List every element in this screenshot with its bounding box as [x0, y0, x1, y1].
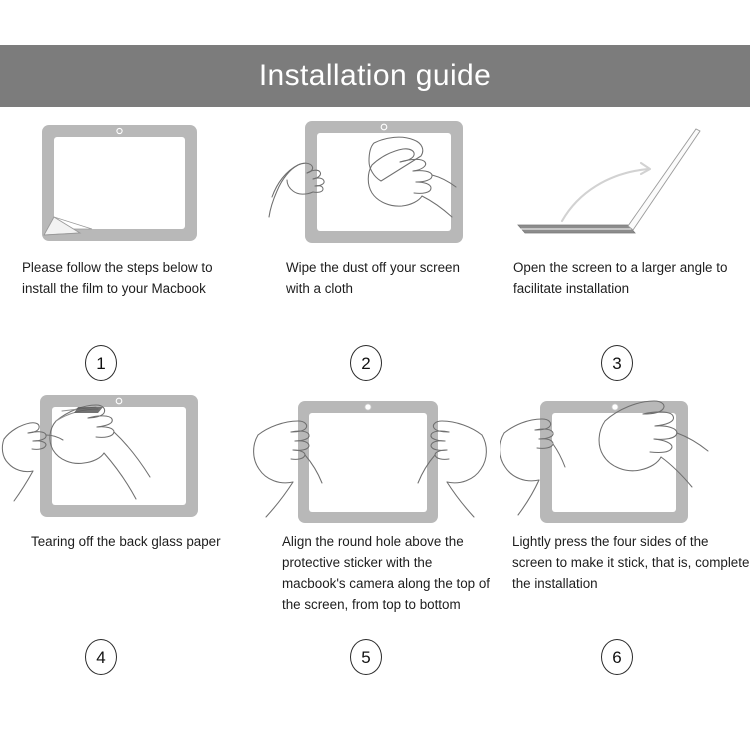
step-number-badge: 2	[350, 345, 382, 381]
steps-grid: Please follow the steps below to install…	[0, 107, 750, 675]
step-cell-5: Align the round hole above the protectiv…	[250, 381, 500, 675]
step-3-illustration	[500, 107, 750, 257]
step-2-number-wrap: 2	[250, 345, 500, 381]
aligning-film-two-hands-icon	[254, 401, 487, 523]
step-5-illustration	[250, 381, 500, 531]
step-6-number-wrap: 6	[500, 639, 750, 675]
step-4-illustration	[0, 381, 250, 531]
step-cell-2: Wipe the dust off your screen with a clo…	[250, 107, 500, 381]
page-title: Installation guide	[259, 61, 491, 91]
step-3-caption: Open the screen to a larger angle to fac…	[513, 257, 744, 345]
step-1-caption: Please follow the steps below to install…	[22, 257, 228, 345]
step-2-caption: Wipe the dust off your screen with a clo…	[286, 257, 492, 345]
step-5-caption: Align the round hole above the protectiv…	[282, 531, 503, 639]
step-4-caption: Tearing off the back glass paper	[31, 531, 242, 639]
step-6-illustration	[500, 381, 750, 531]
installation-guide-page: Installation guide	[0, 0, 750, 750]
step-4-number-wrap: 4	[0, 639, 250, 675]
pressing-film-hand-icon	[500, 401, 708, 523]
hands-wiping-screen-icon	[269, 121, 463, 243]
step-1-number-wrap: 1	[0, 345, 250, 381]
step-cell-1: Please follow the steps below to install…	[0, 107, 250, 381]
step-cell-6: Lightly press the four sides of the scre…	[500, 381, 750, 675]
step-1-illustration	[0, 107, 250, 257]
steps-row-1: Please follow the steps below to install…	[0, 107, 750, 381]
step-2-illustration	[250, 107, 500, 257]
step-number-badge: 4	[85, 639, 117, 675]
step-cell-4: Tearing off the back glass paper 4	[0, 381, 250, 675]
steps-row-2: Tearing off the back glass paper 4	[0, 381, 750, 675]
step-6-caption: Lightly press the four sides of the scre…	[512, 531, 750, 639]
tearing-backing-paper-icon	[2, 395, 198, 517]
laptop-open-angle-icon	[518, 129, 700, 233]
step-number-badge: 1	[85, 345, 117, 381]
header-bar: Installation guide	[0, 45, 750, 107]
step-cell-3: Open the screen to a larger angle to fac…	[500, 107, 750, 381]
step-5-number-wrap: 5	[250, 639, 500, 675]
step-number-badge: 6	[601, 639, 633, 675]
step-3-number-wrap: 3	[500, 345, 750, 381]
macbook-screen-icon	[42, 125, 197, 241]
step-number-badge: 5	[350, 639, 382, 675]
step-number-badge: 3	[601, 345, 633, 381]
